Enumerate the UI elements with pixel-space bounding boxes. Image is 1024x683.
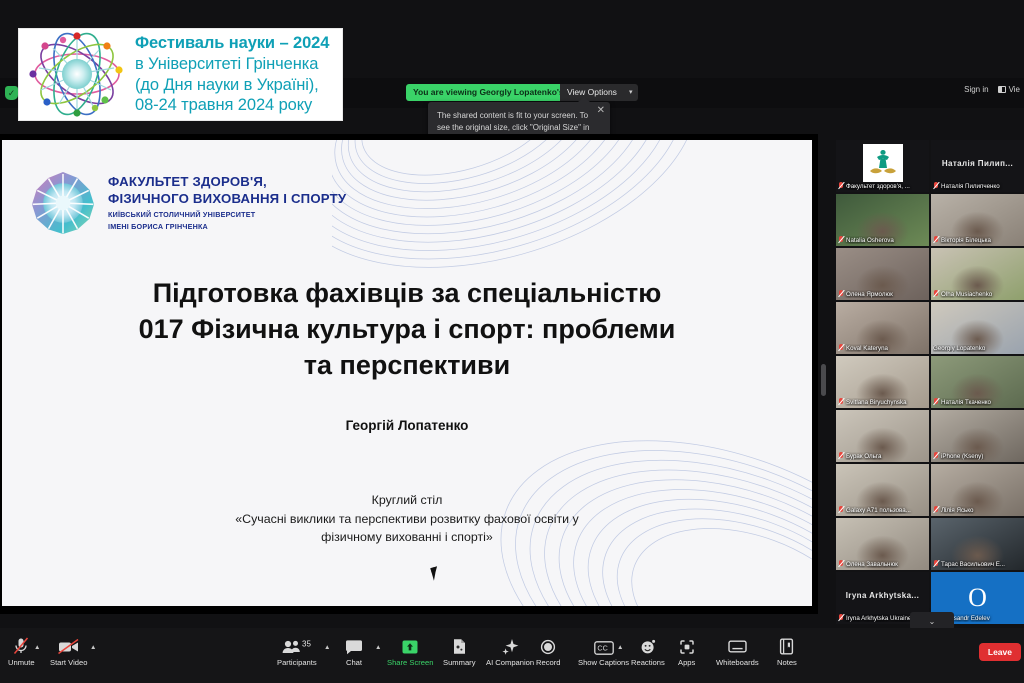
record-label: Record bbox=[536, 658, 560, 667]
unmute-button[interactable]: Unmute bbox=[8, 636, 35, 667]
microphone-muted-icon bbox=[933, 290, 939, 298]
microphone-muted-icon bbox=[838, 452, 844, 460]
chevron-down-icon[interactable]: ▾ bbox=[629, 88, 633, 96]
participant-tile[interactable]: Natalia Osherova bbox=[836, 194, 929, 246]
microphone-muted-icon bbox=[933, 560, 939, 568]
participant-tile[interactable]: iPhone (Kseny) bbox=[931, 410, 1024, 462]
view-options-label: View Options bbox=[567, 87, 617, 97]
university-name-line1: КИЇВСЬКИЙ СТОЛИЧНИЙ УНІВЕРСИТЕТ bbox=[108, 210, 346, 220]
captions-chevron-icon[interactable]: ▲ bbox=[617, 644, 623, 651]
festival-banner-overlay: Фестиваль науки – 2024 в Університеті Гр… bbox=[18, 28, 343, 121]
festival-logo-icon bbox=[19, 28, 135, 121]
participant-name-text: Galaxy A71 пользова... bbox=[846, 507, 911, 514]
share-screen-label: Share Screen bbox=[387, 658, 433, 667]
apps-button[interactable]: Apps bbox=[678, 636, 695, 667]
whiteboards-button[interactable]: Whiteboards bbox=[716, 636, 759, 667]
microphone-muted-icon bbox=[838, 398, 844, 406]
show-captions-button[interactable]: CC Show Captions bbox=[578, 636, 629, 667]
participant-tile[interactable]: Тарас Васильович Е... bbox=[931, 518, 1024, 570]
festival-line-1: Фестиваль науки – 2024 bbox=[135, 33, 329, 54]
participant-name-label: Наталія Пилипченко bbox=[933, 182, 1022, 190]
slide-footer: Круглий стіл «Сучасні виклики та перспек… bbox=[2, 491, 812, 547]
participant-tile[interactable]: Koval Kateryna bbox=[836, 302, 929, 354]
participant-name-label: Koval Kateryna bbox=[838, 344, 927, 352]
participant-name-label: Наталія Ткаченко bbox=[933, 398, 1022, 406]
participant-tile[interactable]: Вікторія Білецька bbox=[931, 194, 1024, 246]
participant-name-text: Факультет здоров'я, ... bbox=[846, 183, 910, 190]
panel-resize-handle[interactable] bbox=[821, 364, 826, 396]
sign-in-button[interactable]: Sign in bbox=[964, 85, 988, 94]
presentation-slide: ФАКУЛЬТЕТ ЗДОРОВ'Я, ФІЗИЧНОГО ВИХОВАННЯ … bbox=[2, 140, 812, 606]
participants-button[interactable]: 35 Participants bbox=[277, 636, 317, 667]
ai-companion-button[interactable]: AI Companion bbox=[486, 636, 534, 667]
participant-tile[interactable]: Georgiy Lopatenko bbox=[931, 302, 1024, 354]
chevron-down-icon: ⌄ bbox=[929, 617, 936, 626]
participant-name-text: Koval Kateryna bbox=[846, 345, 888, 352]
record-icon bbox=[540, 636, 556, 655]
svg-text:CC: CC bbox=[597, 644, 607, 653]
participant-name-label: Galaxy A71 пользова... bbox=[838, 506, 927, 514]
slide-footer-line1: Круглий стіл bbox=[2, 491, 812, 510]
participant-name-text: Natalia Osherova bbox=[846, 237, 894, 244]
close-icon[interactable]: ✕ bbox=[597, 106, 605, 116]
participant-tile[interactable]: Наталія Пилип...Наталія Пилипченко bbox=[931, 140, 1024, 192]
participant-video-strip[interactable]: Факультет здоров'я, ...Наталія Пилип...Н… bbox=[836, 140, 1024, 608]
faculty-avatar-icon bbox=[863, 144, 903, 182]
participants-chevron-icon[interactable]: ▲ bbox=[324, 644, 330, 651]
shield-check-icon[interactable]: ✓ bbox=[5, 86, 18, 100]
notes-icon bbox=[779, 636, 794, 655]
svg-text:35: 35 bbox=[302, 640, 311, 649]
microphone-muted-icon bbox=[933, 182, 939, 190]
start-video-label: Start Video bbox=[50, 658, 87, 667]
slide-title-line3: та перспективи bbox=[2, 347, 812, 383]
share-screen-icon bbox=[401, 636, 419, 655]
faculty-name-line2: ФІЗИЧНОГО ВИХОВАННЯ І СПОРТУ bbox=[108, 191, 346, 208]
summary-icon bbox=[452, 636, 467, 655]
view-button-label: Vie bbox=[1009, 85, 1020, 94]
ai-sparkle-icon bbox=[502, 636, 519, 655]
participant-name-text: Olha Musiachenko bbox=[941, 291, 992, 298]
apps-icon bbox=[679, 636, 695, 655]
participant-name-label: Svitlana Biryuchynska bbox=[838, 398, 927, 406]
unmute-label: Unmute bbox=[8, 658, 35, 667]
participant-name-label: Olha Musiachenko bbox=[933, 290, 1022, 298]
microphone-muted-icon bbox=[838, 560, 844, 568]
faculty-name-line1: ФАКУЛЬТЕТ ЗДОРОВ'Я, bbox=[108, 174, 346, 191]
chat-label: Chat bbox=[346, 658, 362, 667]
chat-icon bbox=[345, 636, 363, 655]
reactions-label: Reactions bbox=[631, 658, 665, 667]
participant-display-name-large: Наталія Пилип... bbox=[931, 159, 1024, 168]
mouse-cursor bbox=[430, 566, 440, 580]
start-video-button[interactable]: Start Video bbox=[50, 636, 87, 667]
microphone-muted-icon bbox=[838, 344, 844, 352]
slide-author: Георгій Лопатенко bbox=[2, 418, 812, 433]
participant-tile[interactable]: Бурак Ольга bbox=[836, 410, 929, 462]
shared-screen-area: ФАКУЛЬТЕТ ЗДОРОВ'Я, ФІЗИЧНОГО ВИХОВАННЯ … bbox=[0, 134, 818, 614]
festival-line-4: 08-24 травня 2024 року bbox=[135, 95, 329, 116]
camera-off-icon bbox=[58, 636, 80, 655]
participant-tile[interactable]: Факультет здоров'я, ... bbox=[836, 140, 929, 192]
participant-name-label: Natalia Osherova bbox=[838, 236, 927, 244]
whiteboards-label: Whiteboards bbox=[716, 658, 759, 667]
slide-title: Підготовка фахівців за спеціальністю 017… bbox=[2, 275, 812, 384]
ai-companion-label: AI Companion bbox=[486, 658, 534, 667]
microphone-muted-icon bbox=[838, 182, 844, 190]
participant-tile[interactable]: Олена Завальнюк bbox=[836, 518, 929, 570]
university-name-line2: ІМЕНІ БОРИСА ГРІНЧЕНКА bbox=[108, 222, 346, 232]
participant-tile[interactable]: Наталія Ткаченко bbox=[931, 356, 1024, 408]
audio-options-chevron-icon[interactable]: ▲ bbox=[34, 644, 40, 651]
faculty-logo-icon bbox=[30, 170, 96, 236]
show-captions-label: Show Captions bbox=[578, 658, 629, 667]
slide-footer-line3: фізичному вихованні і спорті» bbox=[2, 528, 812, 547]
participant-name-label: Georgiy Lopatenko bbox=[933, 345, 1022, 352]
meeting-controls-bar: Unmute ▲ Start Video ▲ 35 bbox=[0, 628, 1024, 683]
participant-tile[interactable]: Galaxy A71 пользова... bbox=[836, 464, 929, 516]
festival-line-2: в Університеті Грінченка bbox=[135, 54, 329, 75]
slide-footer-line2: «Сучасні виклики та перспективи розвитку… bbox=[2, 510, 812, 529]
chat-button[interactable]: Chat bbox=[345, 636, 363, 667]
slide-faculty-header: ФАКУЛЬТЕТ ЗДОРОВ'Я, ФІЗИЧНОГО ВИХОВАННЯ … bbox=[30, 170, 346, 236]
festival-line-3: (до Дня науки в Україні), bbox=[135, 75, 329, 96]
participant-name-text: Олена Завальнюк bbox=[846, 561, 898, 568]
participant-tile[interactable]: Svitlana Biryuchynska bbox=[836, 356, 929, 408]
summary-button[interactable]: Summary bbox=[443, 636, 476, 667]
microphone-off-icon bbox=[13, 636, 29, 655]
slide-title-line2: 017 Фізична культура і спорт: проблеми bbox=[2, 311, 812, 347]
view-grid-icon bbox=[998, 86, 1006, 93]
participant-name-text: Лілія Яcько bbox=[941, 507, 974, 514]
participant-name-text: Олена Ярмолюк bbox=[846, 291, 893, 298]
video-options-chevron-icon[interactable]: ▲ bbox=[90, 644, 96, 651]
participant-name-label: Бурак Ольга bbox=[838, 452, 927, 460]
participant-name-label: Тарас Васильович Е... bbox=[933, 560, 1022, 568]
microphone-muted-icon bbox=[933, 236, 939, 244]
participant-name-text: iPhone (Kseny) bbox=[941, 453, 983, 460]
notes-label: Notes bbox=[777, 658, 797, 667]
slide-title-line1: Підготовка фахівців за спеціальністю bbox=[2, 275, 812, 311]
apps-label: Apps bbox=[678, 658, 695, 667]
top-right-controls: Sign in Vie bbox=[964, 85, 1020, 94]
view-button[interactable]: Vie bbox=[998, 85, 1020, 94]
participant-tile[interactable]: Olha Musiachenko bbox=[931, 248, 1024, 300]
microphone-muted-icon bbox=[933, 506, 939, 514]
chat-chevron-icon[interactable]: ▲ bbox=[375, 644, 381, 651]
participant-name-label: Вікторія Білецька bbox=[933, 236, 1022, 244]
participants-icon: 35 bbox=[282, 636, 312, 655]
closed-captions-icon: CC bbox=[594, 636, 614, 655]
record-button[interactable]: Record bbox=[536, 636, 560, 667]
reactions-smiley-icon bbox=[640, 636, 656, 655]
festival-banner-text: Фестиваль науки – 2024 в Університеті Гр… bbox=[135, 33, 329, 116]
zoom-meeting-window: ✓ You are viewing Georgly Lopatenko's sc… bbox=[0, 0, 1024, 683]
participant-name-text: Вікторія Білецька bbox=[941, 237, 991, 244]
share-screen-button[interactable]: Share Screen bbox=[387, 636, 433, 667]
participant-display-name-large: Iryna Arkhytska... bbox=[836, 591, 929, 600]
participant-name-label: Олена Ярмолюк bbox=[838, 290, 927, 298]
participant-name-label: Лілія Яcько bbox=[933, 506, 1022, 514]
participant-name-text: Бурак Ольга bbox=[846, 453, 881, 460]
notes-button[interactable]: Notes bbox=[777, 636, 797, 667]
participant-name-text: Svitlana Biryuchynska bbox=[846, 399, 907, 406]
participant-name-text: Наталія Пилипченко bbox=[941, 183, 1000, 190]
reactions-button[interactable]: Reactions bbox=[631, 636, 665, 667]
participant-tile[interactable]: Лілія Яcько bbox=[931, 464, 1024, 516]
participant-name-label: Олена Завальнюк bbox=[838, 560, 927, 568]
microphone-muted-icon bbox=[838, 506, 844, 514]
whiteboard-icon bbox=[728, 636, 747, 655]
participants-label: Participants bbox=[277, 658, 317, 667]
microphone-muted-icon bbox=[933, 398, 939, 406]
participant-name-text: Georgiy Lopatenko bbox=[933, 345, 985, 352]
participant-tile[interactable]: Олена Ярмолюк bbox=[836, 248, 929, 300]
participant-name-label: iPhone (Kseny) bbox=[933, 452, 1022, 460]
participant-name-text: Тарас Васильович Е... bbox=[941, 561, 1005, 568]
summary-label: Summary bbox=[443, 658, 476, 667]
microphone-muted-icon bbox=[838, 290, 844, 298]
microphone-muted-icon bbox=[838, 614, 844, 622]
participant-name-label: Факультет здоров'я, ... bbox=[838, 182, 927, 190]
microphone-muted-icon bbox=[933, 452, 939, 460]
participant-name-text: Iryna Arkhytska Ukraine bbox=[846, 615, 911, 622]
participant-name-text: Наталія Ткаченко bbox=[941, 399, 991, 406]
microphone-muted-icon bbox=[838, 236, 844, 244]
view-options-button[interactable]: View Options ▾ bbox=[560, 84, 638, 101]
leave-button[interactable]: Leave bbox=[979, 643, 1021, 661]
